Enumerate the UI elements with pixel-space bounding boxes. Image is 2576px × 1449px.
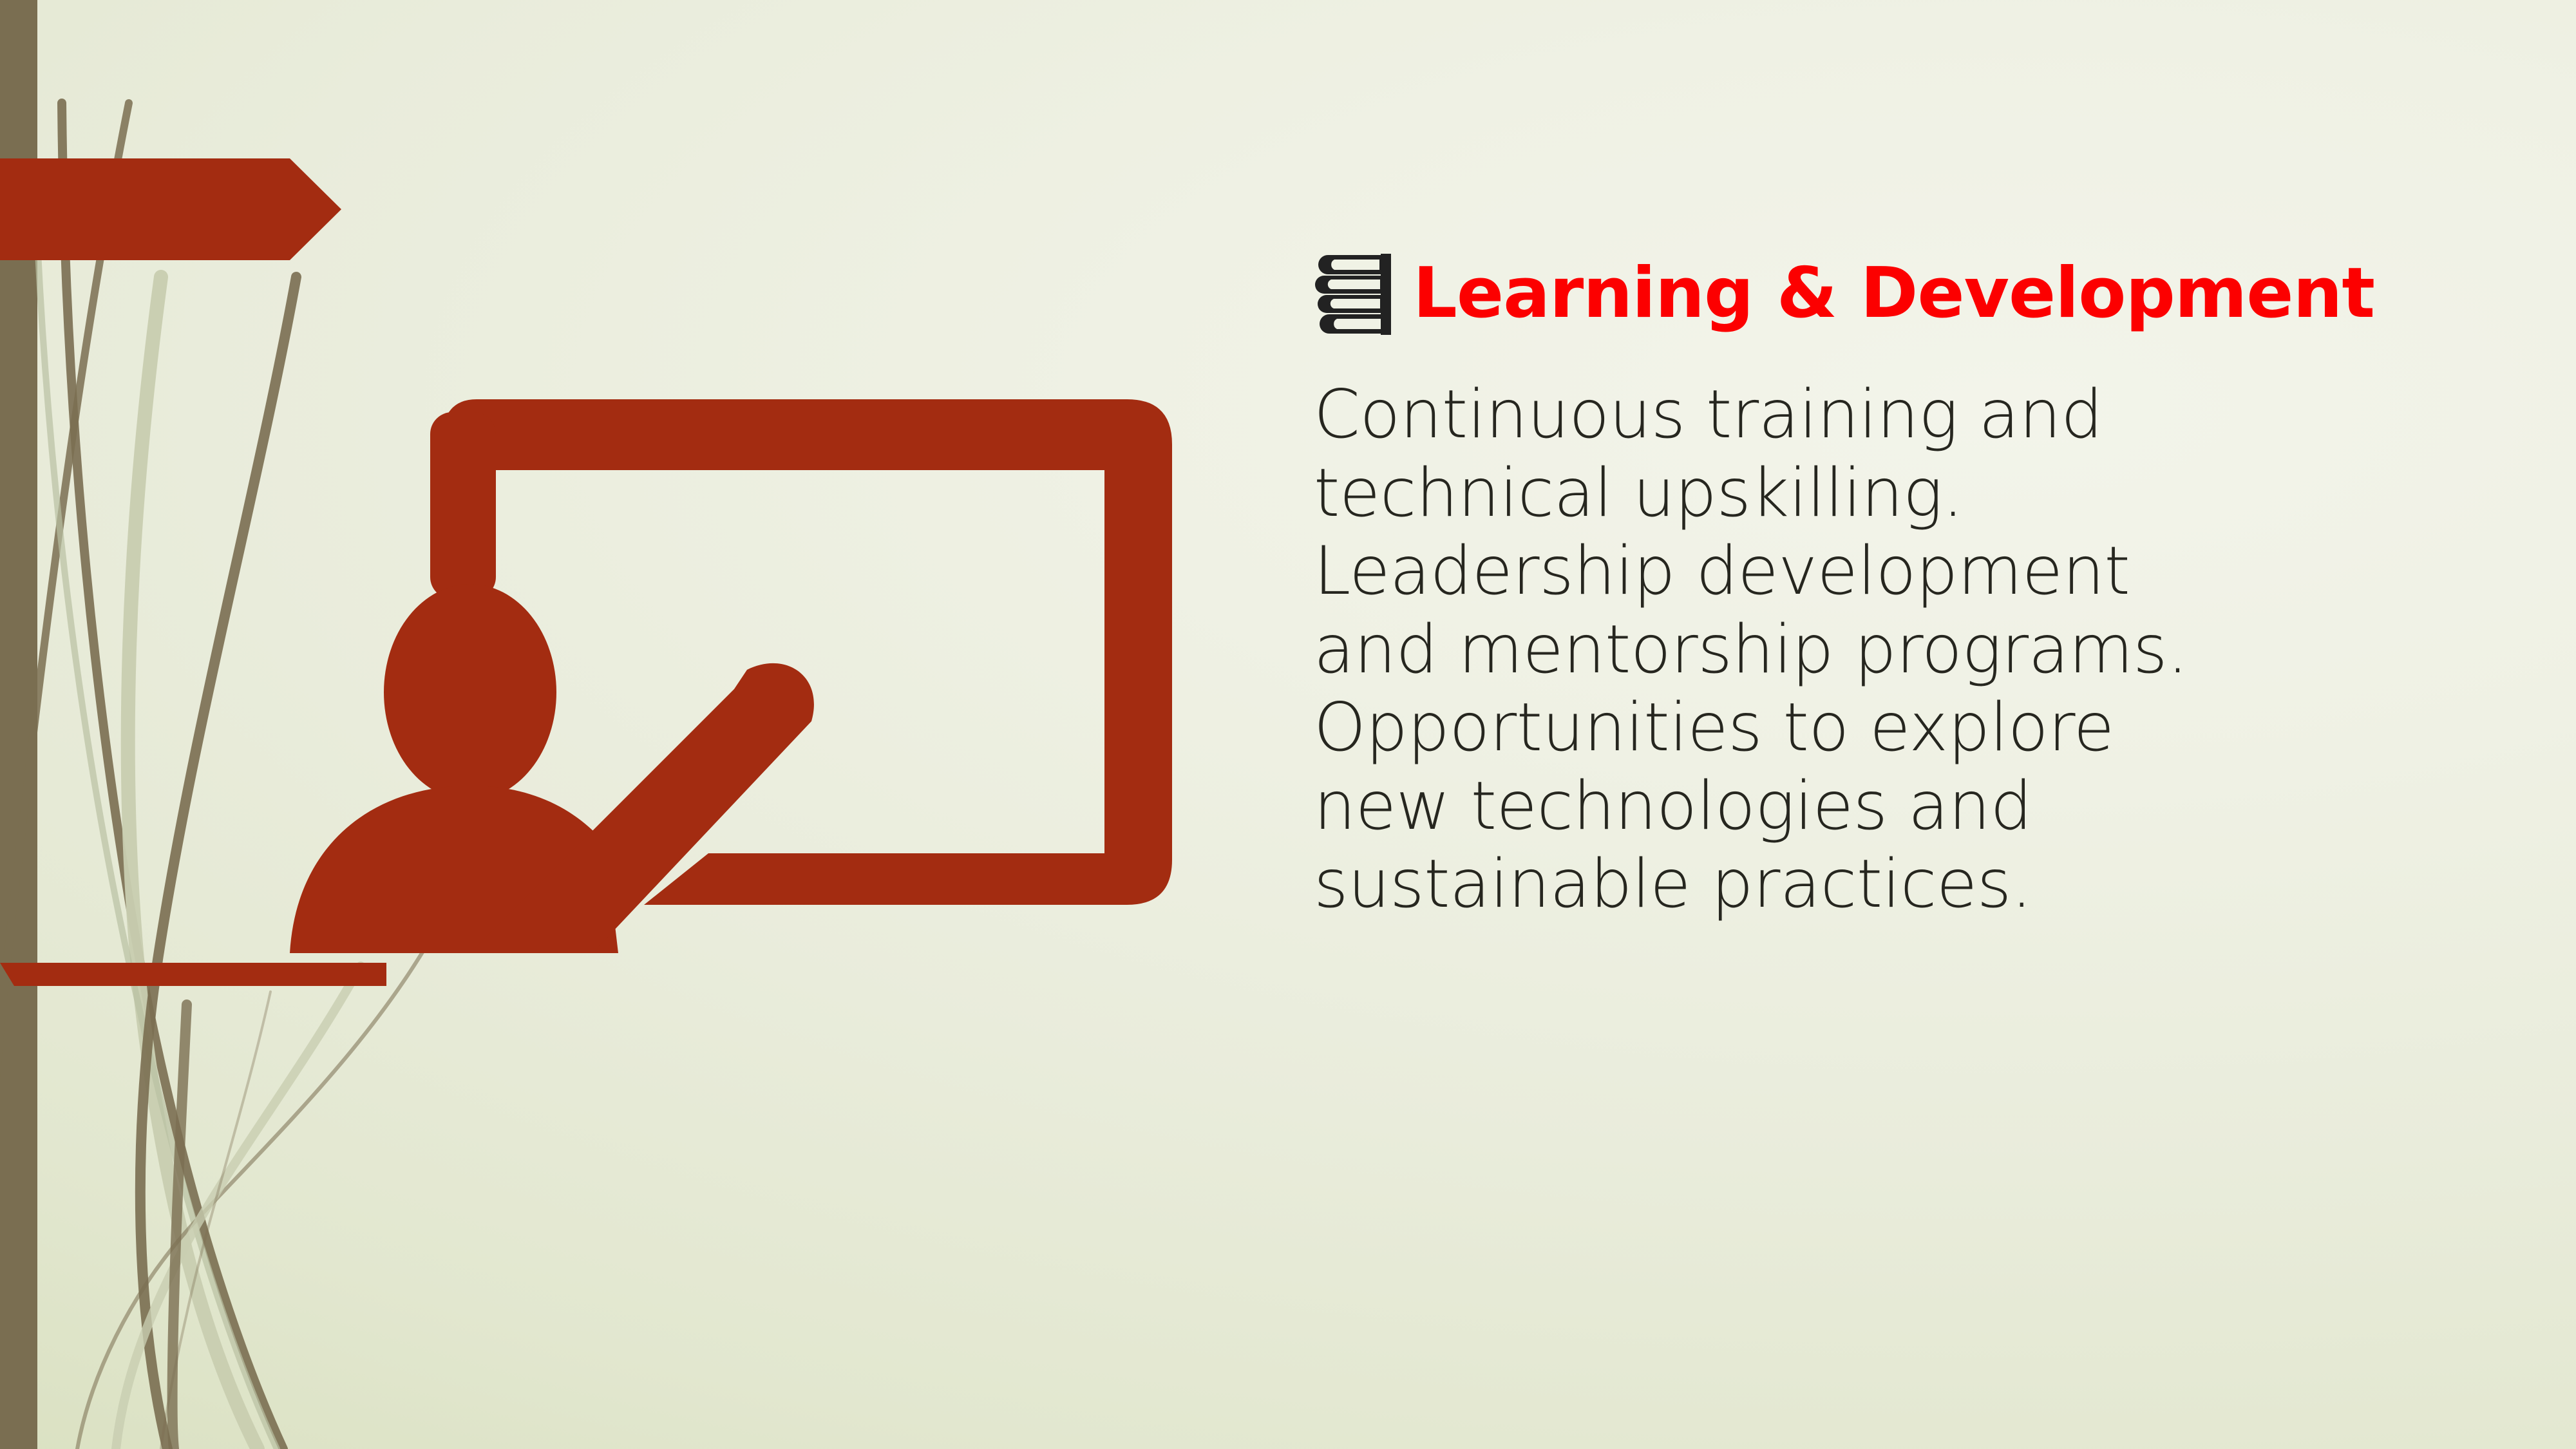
text-content-column: Learning & Development Continuous traini…	[1314, 251, 2518, 924]
grass-stem-2	[62, 103, 283, 1449]
grass-stem-4	[35, 193, 277, 1449]
grass-stem-9	[173, 1005, 187, 1449]
body-line: sustainable practices.	[1314, 846, 2267, 924]
red-accent-chip	[0, 963, 386, 986]
person-head	[384, 584, 556, 800]
grass-stem-7	[116, 966, 361, 1449]
grass-stem-8	[161, 992, 270, 1449]
red-arrow-banner	[0, 158, 341, 260]
body-line: Continuous training and	[1314, 376, 2267, 455]
body-line: Opportunities to explore	[1314, 689, 2267, 768]
body-line: new technologies and	[1314, 768, 2267, 846]
chip-shape	[0, 963, 386, 986]
slide-body-text: Continuous training and technical upskil…	[1314, 376, 2267, 924]
body-line: and mentorship programs.	[1314, 611, 2267, 690]
books-icon	[1314, 251, 1391, 336]
slide-heading: Learning & Development	[1314, 251, 2518, 336]
arrow-shape	[0, 158, 341, 260]
teacher-at-whiteboard-icon	[258, 374, 1224, 953]
whiteboard-left-leg	[430, 412, 496, 599]
grass-stem-3	[128, 277, 258, 1449]
slide-canvas: Learning & Development Continuous traini…	[0, 0, 2576, 1449]
body-line: Leadership development	[1314, 533, 2267, 611]
page-title: Learning & Development	[1413, 259, 2374, 328]
body-line: technical upskilling.	[1314, 455, 2267, 533]
